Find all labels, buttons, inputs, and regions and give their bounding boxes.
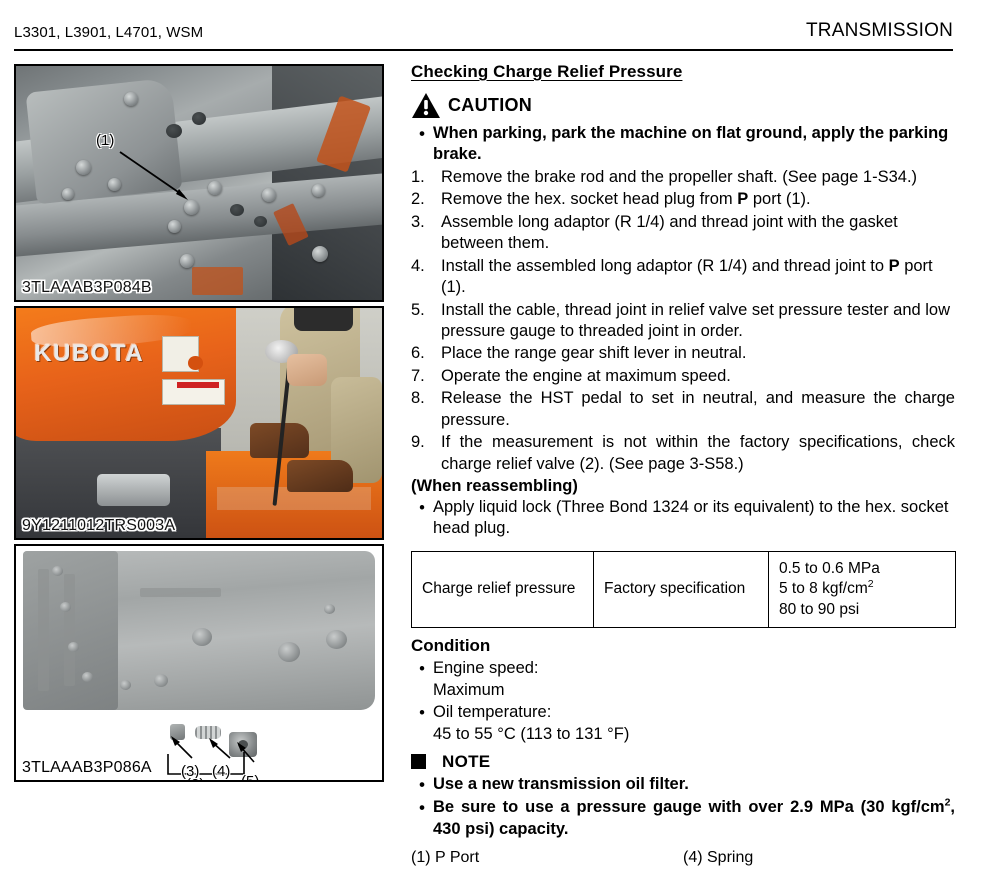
step-text: Remove the hex. socket head plug from P … [441,189,955,210]
bullet-dot-icon: • [411,797,433,840]
header-section-title: TRANSMISSION [806,0,953,42]
procedure-step: 8. Release the HST pedal to set in neutr… [411,388,955,431]
spec-value-mpa: 0.5 to 0.6 MPa [779,560,880,577]
figure-caption-3: 3TLAAAB3P086A [22,759,152,777]
note-label: NOTE [442,752,490,772]
note-item: • Be sure to use a pressure gauge with o… [411,797,955,840]
note-item-pre: Be sure to use a pressure gauge with ove… [433,798,945,816]
callout-leader-lines-3 [16,546,384,782]
procedure-step: 7. Operate the engine at maximum speed. [411,366,955,387]
legend-entry-1: (1) P Port [411,849,683,867]
procedure-step: 9. If the measurement is not within the … [411,432,955,475]
note-item-text: Use a new transmission oil filter. [433,774,955,796]
procedure-step: 3. Assemble long adaptor (R 1/4) and thr… [411,212,955,255]
caution-item: • When parking, park the machine on flat… [411,123,955,166]
figure-transmission-casting: (1) 3TLAAAB3P084B [14,64,384,302]
figure-column: (1) 3TLAAAB3P084B KUBOTA [14,64,384,786]
warning-triangle-icon [411,92,441,119]
spec-value-psi: 80 to 90 psi [779,601,859,618]
figure-tractor-operator: KUBOTA 9Y1211012TRS003A [14,306,384,540]
condition-label: Engine speed: [433,659,539,677]
bullet-dot-icon: • [411,702,433,745]
figure-callout-1: (1) [96,132,114,149]
step-number: 9. [411,432,441,475]
caution-list: • When parking, park the machine on flat… [411,123,955,166]
step-text: Remove the brake rod and the propeller s… [441,167,955,188]
note-list: • Use a new transmission oil filter. • B… [411,774,955,840]
procedure-step: 4. Install the assembled long adaptor (R… [411,256,955,299]
caution-header: CAUTION [411,92,955,119]
header-model-list: L3301, L3901, L4701, WSM [14,0,203,41]
step-text: Assemble long adaptor (R 1/4) and thread… [441,212,955,255]
table-row: Charge relief pressure Factory specifica… [412,551,956,627]
tractor-brand-label: KUBOTA [34,340,144,368]
condition-value: 45 to 55 °C (113 to 131 °F) [433,725,629,743]
bullet-dot-icon: • [411,497,433,540]
spec-value-cell: 0.5 to 0.6 MPa 5 to 8 kgf/cm2 80 to 90 p… [769,551,956,627]
figure-callout-2: (2) [186,776,204,782]
spec-value-kgf-sup: 2 [868,578,874,590]
procedure-step: 5. Install the cable, thread joint in re… [411,300,955,343]
page-title: Checking Charge Relief Pressure [411,62,955,82]
note-square-icon [411,754,426,769]
step-number: 7. [411,366,441,387]
note-header: NOTE [411,752,955,772]
figure-callout-4: (4) [212,763,230,780]
condition-item-text: Engine speed: Maximum [433,658,955,701]
manual-page: L3301, L3901, L4701, WSM TRANSMISSION [0,0,981,872]
page-header: L3301, L3901, L4701, WSM TRANSMISSION [0,0,981,48]
procedure-step: 6. Place the range gear shift lever in n… [411,343,955,364]
condition-heading: Condition [411,636,955,656]
figure-callout-5: (5) [241,773,259,782]
bullet-dot-icon: • [411,774,433,796]
photo-tractor-operator: KUBOTA [16,308,382,538]
step-text: Operate the engine at maximum speed. [441,366,955,387]
step-number: 4. [411,256,441,299]
step-text: Install the assembled long adaptor (R 1/… [441,256,955,299]
procedure-step: 1. Remove the brake rod and the propelle… [411,167,955,188]
step-text: Place the range gear shift lever in neut… [441,343,955,364]
spec-value-kgf: 5 to 8 kgf/cm [779,580,868,597]
figure-legend-row: (1) P Port (4) Spring [411,849,955,867]
bullet-dot-icon: • [411,123,433,166]
step-number: 6. [411,343,441,364]
photo-relief-valve-parts: (3) (4) (5) (2) [16,546,382,780]
figure-caption-2: 9Y1211012TRS003A [22,517,175,535]
procedure-step-list: 1. Remove the brake rod and the propelle… [411,167,955,475]
figure-relief-valve-parts: (3) (4) (5) (2) 3TLAAAB3P086A [14,544,384,782]
header-divider [14,49,953,51]
step-number: 2. [411,189,441,210]
spec-type-cell: Factory specification [594,551,769,627]
note-item: • Use a new transmission oil filter. [411,774,955,796]
spec-item-cell: Charge relief pressure [412,551,594,627]
condition-list: • Engine speed: Maximum • Oil temperatur… [411,658,955,745]
step-number: 3. [411,212,441,255]
step-text: Install the cable, thread joint in relie… [441,300,955,343]
content-column: Checking Charge Relief Pressure CAUTION … [411,62,955,867]
condition-item-text: Oil temperature: 45 to 55 °C (113 to 131… [433,702,955,745]
step-number: 5. [411,300,441,343]
legend-entry-2: (4) Spring [683,849,955,867]
caution-label: CAUTION [448,95,532,116]
reassembling-heading: (When reassembling) [411,477,955,496]
procedure-step: 2. Remove the hex. socket head plug from… [411,189,955,210]
condition-label: Oil temperature: [433,703,551,721]
caution-item-text: When parking, park the machine on flat g… [433,123,955,166]
note-item-text: Be sure to use a pressure gauge with ove… [433,797,955,840]
condition-value: Maximum [433,681,505,699]
condition-item: • Engine speed: Maximum [411,658,955,701]
callout-leader-line-1 [16,66,384,302]
reassembling-list: • Apply liquid lock (Three Bond 1324 or … [411,497,955,540]
step-text: If the measurement is not within the fac… [441,432,955,475]
specification-table: Charge relief pressure Factory specifica… [411,551,956,628]
reassembling-item: • Apply liquid lock (Three Bond 1324 or … [411,497,955,540]
photo-transmission-casting: (1) [16,66,382,300]
reassembling-item-text: Apply liquid lock (Three Bond 1324 or it… [433,497,955,540]
step-number: 1. [411,167,441,188]
condition-item: • Oil temperature: 45 to 55 °C (113 to 1… [411,702,955,745]
figure-caption-1: 3TLAAAB3P084B [22,279,152,297]
step-number: 8. [411,388,441,431]
bullet-dot-icon: • [411,658,433,701]
step-text: Release the HST pedal to set in neutral,… [441,388,955,431]
